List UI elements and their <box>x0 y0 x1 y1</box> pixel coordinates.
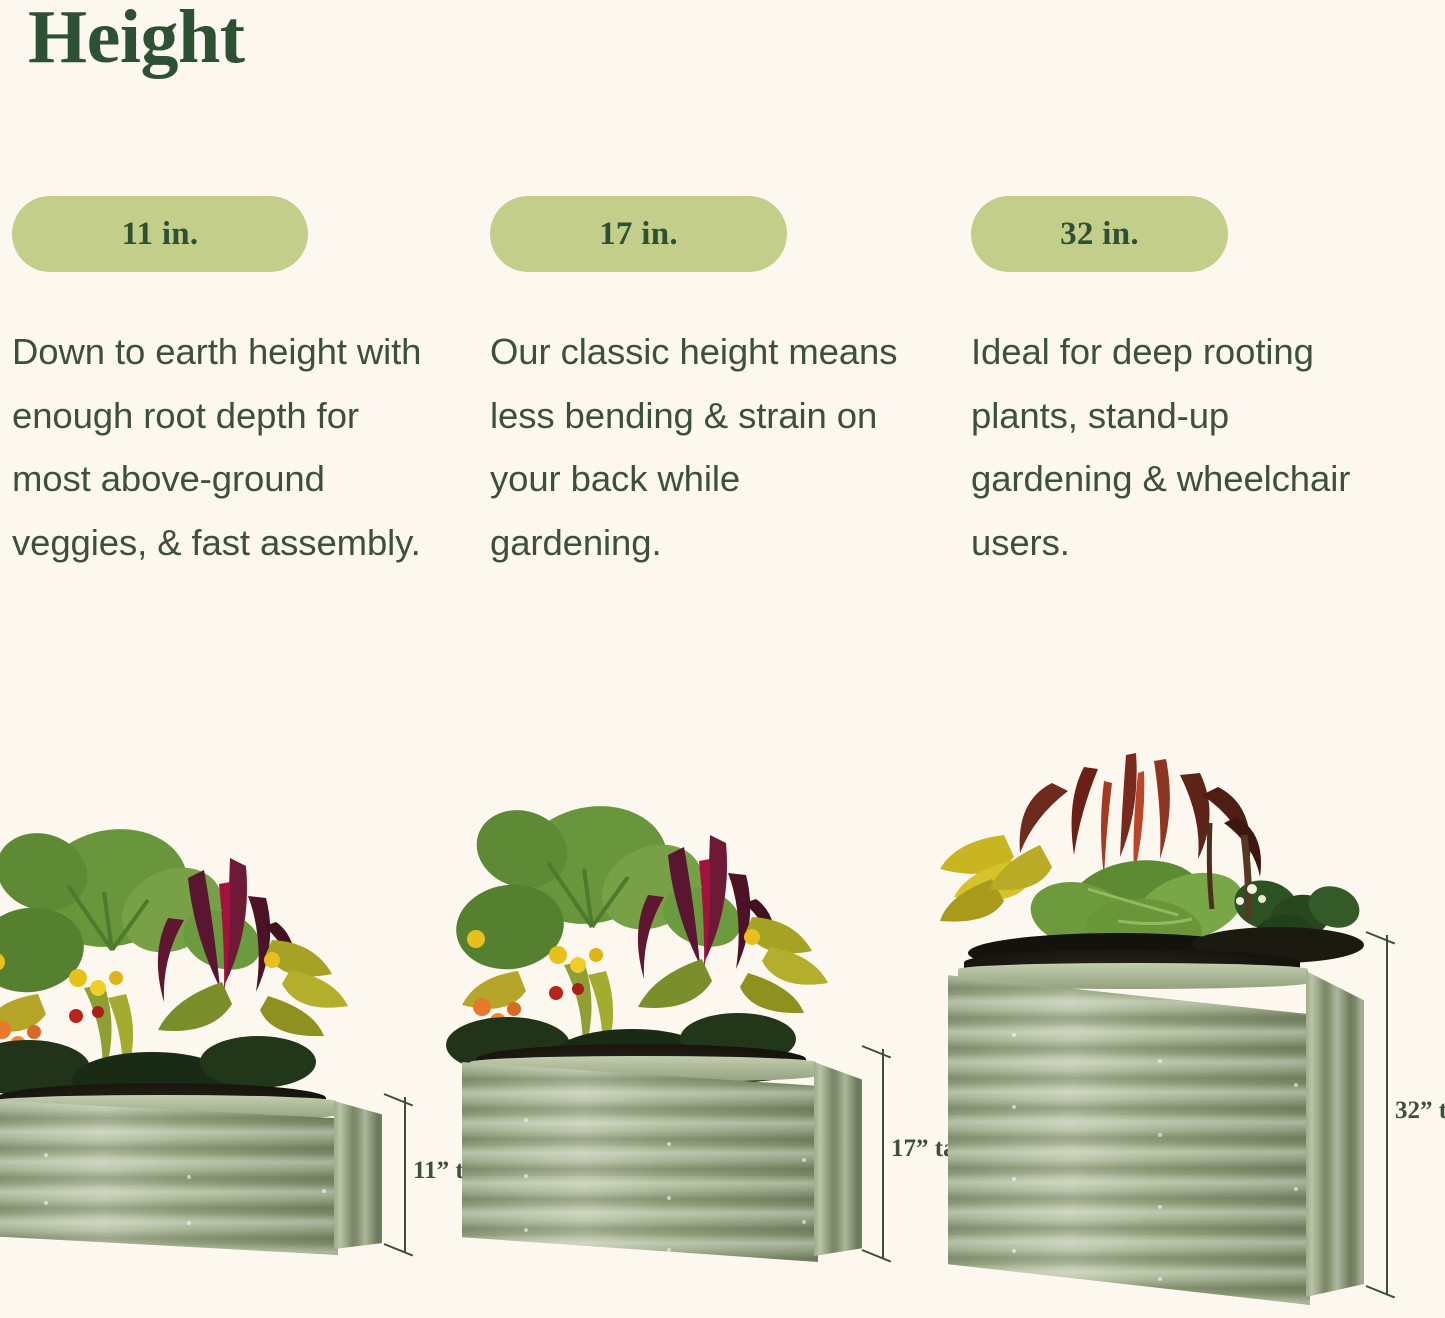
badge-11in: 11 in. <box>12 196 308 272</box>
dimension-cap-bottom <box>384 1243 413 1256</box>
rivet <box>1012 1105 1016 1109</box>
raised-bed-box-11in <box>0 1077 384 1255</box>
badge-17in: 17 in. <box>490 196 787 272</box>
rivet <box>1294 1187 1298 1191</box>
rivet <box>524 1118 528 1122</box>
front-panel-32in <box>948 965 1310 1305</box>
side-panel-11in <box>334 1101 382 1249</box>
rivet <box>1012 1033 1016 1037</box>
badge-32in-label: 32 in. <box>1060 216 1139 253</box>
rivet <box>187 1221 191 1225</box>
rivet <box>1158 1059 1162 1063</box>
front-panel-11in <box>0 1095 338 1255</box>
height-option-17in: 17 in. Our classic height means less ben… <box>480 196 962 574</box>
height-option-11in: 11 in. Down to earth height with enough … <box>0 196 480 574</box>
dimension-label-32in: 32” tall <box>1392 1095 1445 1127</box>
rivet <box>667 1142 671 1146</box>
rivet <box>667 1248 671 1252</box>
rivet <box>524 1228 528 1232</box>
front-panel-17in <box>462 1056 818 1262</box>
rivet <box>1012 1249 1016 1253</box>
raised-bed-box-17in <box>462 1038 864 1262</box>
planter-images-row: 11” tall <box>0 735 1445 1318</box>
planter-image-11in: 11” tall <box>0 800 412 1255</box>
rivet <box>802 1220 806 1224</box>
height-option-32in: 32 in. Ideal for deep rooting plants, st… <box>962 196 1445 574</box>
badge-17in-label: 17 in. <box>599 216 678 253</box>
planter-image-17in: 17” tall <box>462 777 922 1262</box>
badge-32in: 32 in. <box>971 196 1228 272</box>
raised-bed-box-32in <box>948 947 1368 1305</box>
rivet <box>1012 1177 1016 1181</box>
dimension-cap-top <box>1366 931 1395 944</box>
rivet <box>322 1189 326 1193</box>
plants-illustration-32in <box>948 739 1368 969</box>
rivet <box>1294 1083 1298 1087</box>
rivet <box>802 1158 806 1162</box>
rivet <box>1158 1133 1162 1137</box>
dimension-line <box>404 1097 406 1253</box>
dimension-line <box>882 1049 884 1259</box>
rivet <box>667 1196 671 1200</box>
height-options-row: 11 in. Down to earth height with enough … <box>0 196 1445 574</box>
planter-image-32in: 32” tall <box>948 735 1445 1305</box>
rivet <box>44 1153 48 1157</box>
side-panel-32in <box>1306 971 1364 1297</box>
description-32in: Ideal for deep rooting plants, stand-up … <box>971 320 1371 574</box>
rivet <box>524 1174 528 1178</box>
page-title: Height <box>28 0 245 81</box>
dimension-line <box>1386 935 1388 1295</box>
description-11in: Down to earth height with enough root de… <box>12 320 432 574</box>
rivet <box>1158 1205 1162 1209</box>
side-panel-17in <box>814 1062 862 1256</box>
rivet <box>44 1201 48 1205</box>
description-17in: Our classic height means less bending & … <box>490 320 898 574</box>
badge-11in-label: 11 in. <box>121 216 198 253</box>
rivet <box>187 1175 191 1179</box>
rivet <box>1158 1277 1162 1281</box>
dimension-cap-bottom <box>862 1249 891 1262</box>
dimension-cap-bottom <box>1366 1285 1395 1298</box>
